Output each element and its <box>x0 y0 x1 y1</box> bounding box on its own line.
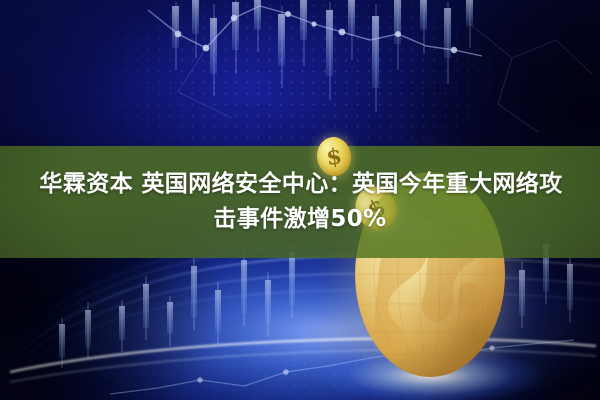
headline-line-2: 击事件激增50% <box>213 203 386 236</box>
headline-text: 华霖资本 英国网络安全中心：英国今年重大网络攻 击事件激增50% <box>0 146 600 258</box>
headline-line-1: 华霖资本 英国网络安全中心：英国今年重大网络攻 <box>37 168 562 201</box>
network-connection-lines <box>178 24 592 132</box>
candlestick-chart-top <box>172 0 473 112</box>
news-thumbnail-image: $ $ 华霖资本 英国网络安全中心：英国今年重大网络攻 击事件激增50% <box>0 0 600 400</box>
